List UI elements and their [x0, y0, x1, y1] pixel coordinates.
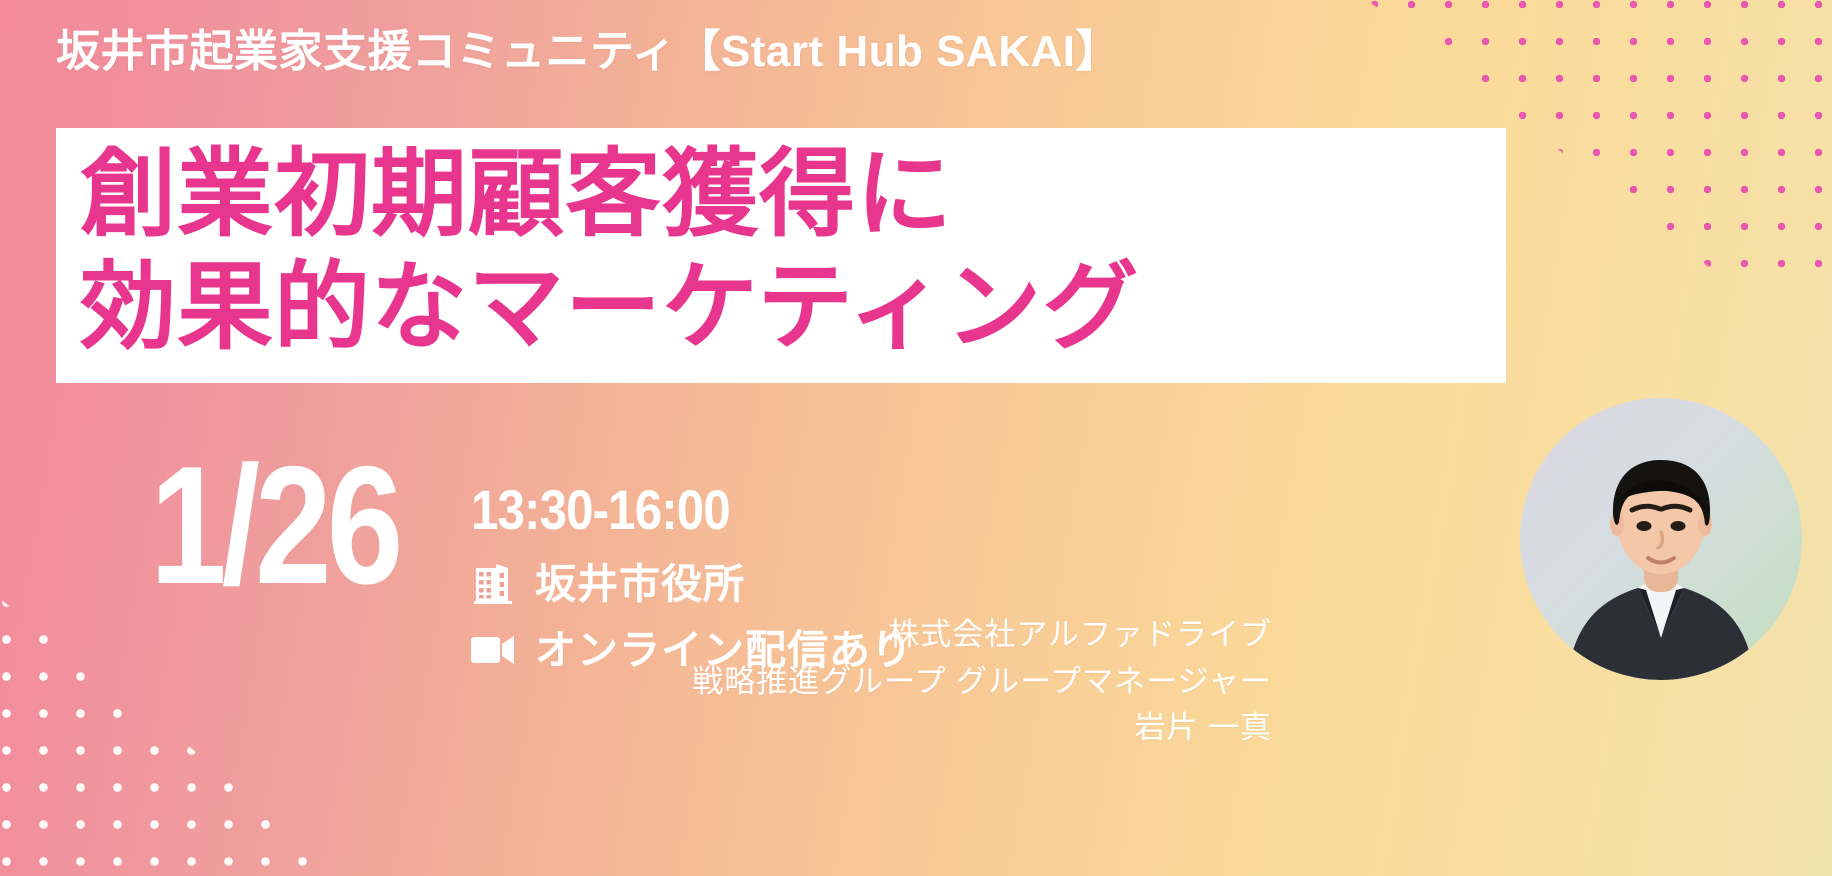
title-plate: 創業初期顧客獲得に 効果的なマーケティング	[56, 128, 1506, 383]
event-banner: 坂井市起業家支援コミュニティ【Start Hub SAKAI】 創業初期顧客獲得…	[0, 0, 1832, 876]
event-date: 1/26	[150, 448, 398, 603]
event-time: 13:30-16:00	[471, 482, 860, 538]
speaker-info: 株式会社アルファドライブ 戦略推進グループ グループマネージャー 岩片 一真	[692, 612, 1272, 752]
speaker-avatar	[1520, 398, 1802, 680]
event-venue-label: 坂井市役所	[535, 564, 745, 605]
page-title-line-2: 効果的なマーケティング	[80, 251, 1480, 364]
page-title-line-1: 創業初期顧客獲得に	[80, 138, 1240, 251]
video-camera-icon	[471, 628, 515, 672]
speaker-company: 株式会社アルファドライブ	[692, 612, 1272, 659]
building-icon	[471, 562, 515, 606]
speaker-name: 岩片 一真	[692, 705, 1272, 752]
speaker-role: 戦略推進グループ グループマネージャー	[692, 659, 1272, 706]
community-kicker: 坂井市起業家支援コミュニティ【Start Hub SAKAI】	[56, 26, 1120, 79]
event-venue-row: 坂井市役所	[471, 562, 913, 606]
